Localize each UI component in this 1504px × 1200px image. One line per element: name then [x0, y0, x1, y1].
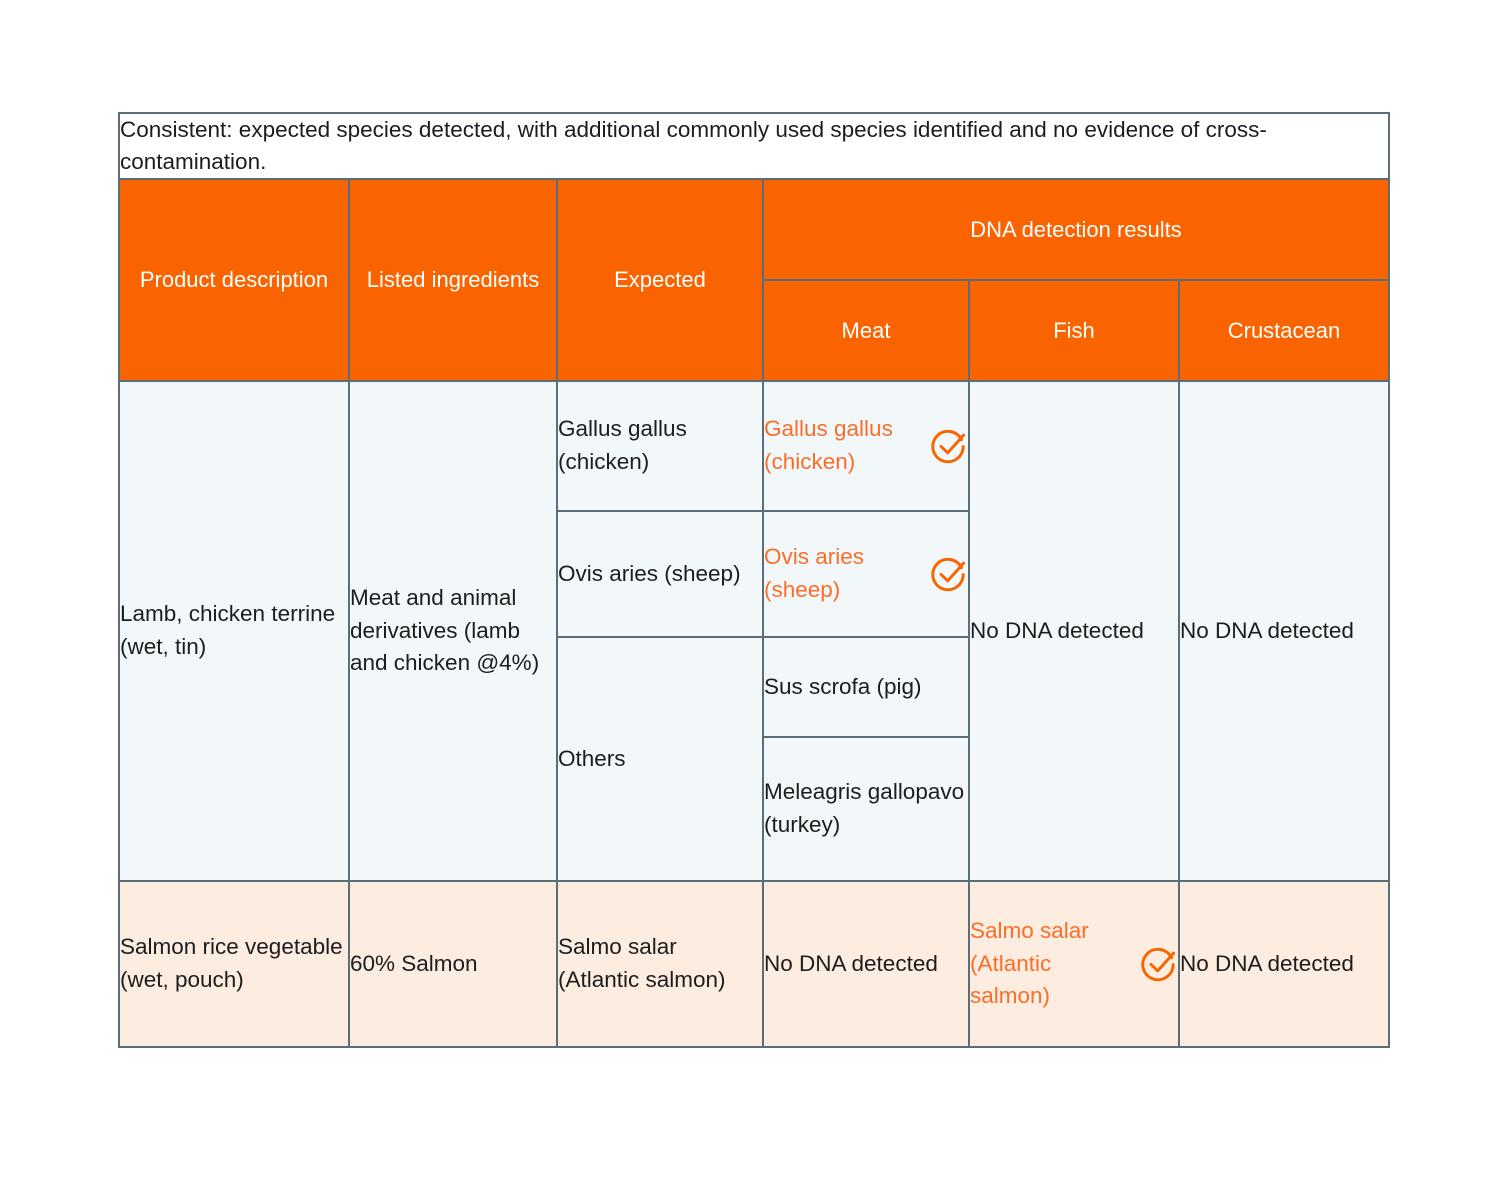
cell-crustacean-result: No DNA detected	[1179, 381, 1389, 881]
cell-product-description: Lamb, chicken terrine (wet, tin)	[119, 381, 349, 881]
table-caption: Consistent: expected species detected, w…	[119, 113, 1389, 179]
cell-meat-result: Ovis aries (sheep)	[763, 511, 969, 637]
header-crustacean: Crustacean	[1179, 280, 1389, 381]
cell-meat-result: Sus scrofa (pig)	[763, 637, 969, 737]
header-product-description: Product description	[119, 179, 349, 381]
check-circle-icon	[930, 555, 968, 593]
header-listed-ingredients: Listed ingredients	[349, 179, 557, 381]
dna-results-table: Consistent: expected species detected, w…	[118, 112, 1390, 1048]
cell-crustacean-result: No DNA detected	[1179, 881, 1389, 1047]
cell-listed-ingredients: 60% Salmon	[349, 881, 557, 1047]
table-caption-row: Consistent: expected species detected, w…	[119, 113, 1389, 179]
header-meat: Meat	[763, 280, 969, 381]
cell-meat-result: No DNA detected	[763, 881, 969, 1047]
header-dna-detection-results: DNA detection results	[763, 179, 1389, 280]
check-circle-icon	[930, 427, 968, 465]
header-expected: Expected	[557, 179, 763, 381]
cell-listed-ingredients: Meat and animal derivatives (lamb and ch…	[349, 381, 557, 881]
cell-expected-species: Salmo salar (Atlantic salmon)	[557, 881, 763, 1047]
dna-results-table-container: Consistent: expected species detected, w…	[118, 112, 1388, 1048]
cell-product-description: Salmon rice vegetable (wet, pouch)	[119, 881, 349, 1047]
fish-detected-species: Salmo salar (Atlantic salmon)	[970, 915, 1130, 1012]
table-header-row-primary: Product description Listed ingredients E…	[119, 179, 1389, 280]
cell-expected-species: Ovis aries (sheep)	[557, 511, 763, 637]
page-root: Consistent: expected species detected, w…	[0, 0, 1504, 1200]
check-circle-icon	[1140, 945, 1178, 983]
cell-meat-result: Gallus gallus (chicken)	[763, 381, 969, 511]
cell-meat-result: Meleagris gallopavo (turkey)	[763, 737, 969, 881]
meat-detected-species: Ovis aries (sheep)	[764, 541, 920, 606]
table-row: Salmon rice vegetable (wet, pouch) 60% S…	[119, 881, 1389, 1047]
cell-expected-others: Others	[557, 637, 763, 881]
meat-detected-species: Gallus gallus (chicken)	[764, 413, 920, 478]
cell-fish-result: No DNA detected	[969, 381, 1179, 881]
cell-expected-species: Gallus gallus (chicken)	[557, 381, 763, 511]
header-fish: Fish	[969, 280, 1179, 381]
table-row: Lamb, chicken terrine (wet, tin) Meat an…	[119, 381, 1389, 511]
cell-fish-result: Salmo salar (Atlantic salmon)	[969, 881, 1179, 1047]
